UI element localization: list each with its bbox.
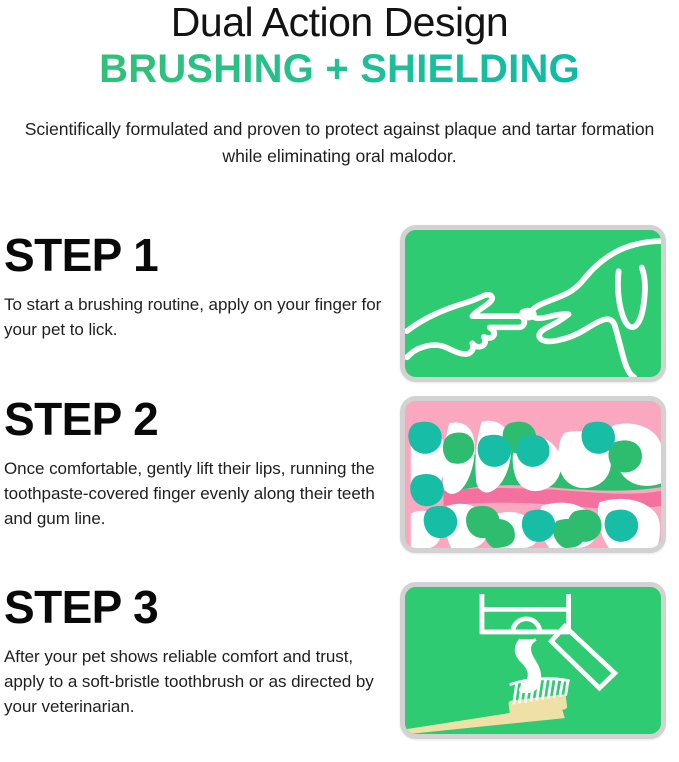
step-text-column: STEP 3 After your pet shows reliable com… (0, 582, 400, 719)
step-2-body: Once comfortable, gently lift their lips… (4, 456, 386, 531)
step-figure-column (400, 396, 679, 553)
step-3-body: After your pet shows reliable comfort an… (4, 644, 386, 719)
step-item: STEP 3 After your pet shows reliable com… (0, 582, 679, 762)
step-item: STEP 1 To start a brushing routine, appl… (0, 218, 679, 396)
step-1-body: To start a brushing routine, apply on yo… (4, 292, 386, 342)
step-2-title: STEP 2 (4, 396, 386, 442)
steps-list: STEP 1 To start a brushing routine, appl… (0, 218, 679, 762)
step-1-title: STEP 1 (4, 232, 386, 278)
step-figure-column (400, 218, 679, 382)
step-item: STEP 2 Once comfortable, gently lift the… (0, 396, 679, 582)
page-title: Dual Action Design (0, 2, 679, 43)
step-figure-column (400, 582, 679, 739)
teeth-and-gum-line-icon (405, 401, 661, 548)
finger-with-toothpaste-and-dog-icon (405, 230, 661, 377)
step-3-illustration-panel (400, 582, 666, 739)
step-text-column: STEP 1 To start a brushing routine, appl… (0, 218, 400, 342)
step-2-illustration-panel (400, 396, 666, 553)
toothpaste-tube-and-toothbrush-icon (405, 587, 661, 734)
page-subtitle: BRUSHING + SHIELDING (0, 48, 679, 90)
step-text-column: STEP 2 Once comfortable, gently lift the… (0, 396, 400, 531)
step-3-title: STEP 3 (4, 584, 386, 630)
header-block: Dual Action Design BRUSHING + SHIELDING … (0, 0, 679, 169)
intro-paragraph: Scientifically formulated and proven to … (17, 116, 663, 169)
step-1-illustration-panel (400, 225, 666, 382)
